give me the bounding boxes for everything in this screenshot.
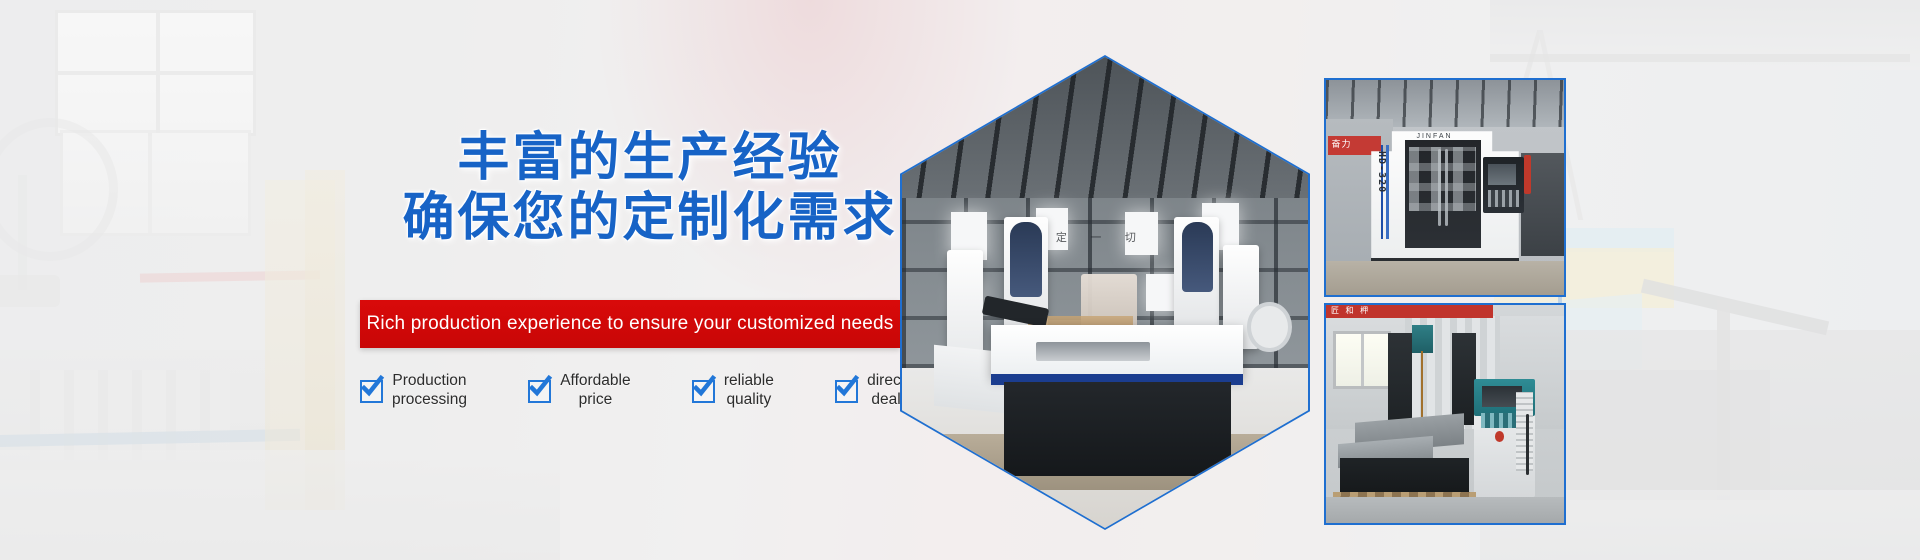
m2-window xyxy=(1333,331,1391,389)
m2-floor xyxy=(1326,497,1564,523)
feature-label-line-1: reliable xyxy=(724,372,774,389)
hexagon-photo-content: 定 一 切 xyxy=(902,57,1308,528)
feature-label-line-2: deal xyxy=(871,391,900,408)
m2-gantry-right xyxy=(1452,333,1476,425)
feature-label-line-1: Affordable xyxy=(560,372,630,389)
m1-floor xyxy=(1326,261,1564,295)
m2-wall-banner: 匠 和 柙 xyxy=(1326,305,1493,318)
machine-bridge-window xyxy=(1036,342,1150,361)
feature-label-line-2: processing xyxy=(392,391,467,408)
side-photo-edm: 匠 和 柙 xyxy=(1324,303,1566,525)
m1-door-window xyxy=(1409,147,1476,212)
checkbox-checked-icon xyxy=(528,380,551,403)
checkbox-checked-icon xyxy=(360,380,383,403)
machine-column-b-head xyxy=(1010,222,1042,297)
m1-red-guard xyxy=(1524,155,1531,194)
feature-list: Production processing Affordable price r… xyxy=(360,372,905,410)
checkbox-checked-icon xyxy=(692,380,715,403)
machine-base xyxy=(1004,382,1231,476)
m1-wall-banner-text: 奋力 xyxy=(1332,137,1352,150)
hero-banner: 丰富的生产经验 确保您的定制化需求 Rich production experi… xyxy=(0,0,1920,560)
feature-label-line-2: price xyxy=(579,391,613,408)
overhead-sign-text: 定 一 切 xyxy=(1040,229,1162,245)
factory-roof-beams xyxy=(902,57,1308,208)
feature-label: Production processing xyxy=(392,372,467,410)
factory-roof xyxy=(902,57,1308,208)
machine-column-c-head xyxy=(1182,222,1212,293)
headline-line-1: 丰富的生产经验 xyxy=(457,128,842,188)
feature-item-affordable-price: Affordable price xyxy=(528,372,630,410)
m1-control-keypad xyxy=(1488,190,1519,207)
feature-label: Affordable price xyxy=(560,372,630,410)
feature-label-line-1: Production xyxy=(392,372,466,389)
machine-wheel xyxy=(1247,302,1292,352)
factory-window xyxy=(1146,274,1174,312)
feature-label: reliable quality xyxy=(724,372,774,410)
m2-cabinet-vent xyxy=(1516,392,1533,470)
m2-machine-base xyxy=(1340,458,1469,497)
feature-item-reliable-quality: reliable quality xyxy=(692,372,774,410)
m2-cutting-head xyxy=(1412,325,1433,353)
m1-model-label: HD-320 xyxy=(1376,151,1387,193)
m2-hanging-cable xyxy=(1526,414,1529,475)
subtitle-bar: Rich production experience to ensure you… xyxy=(360,300,900,348)
feature-item-production-processing: Production processing xyxy=(360,372,467,410)
m2-wall-banner-text: 匠 和 柙 xyxy=(1331,305,1370,316)
side-photo-hd320: 奋力 HD-320 JINFAN xyxy=(1324,78,1566,297)
subtitle-bar-text: Rich production experience to ensure you… xyxy=(366,313,893,335)
headline-line-2: 确保您的定制化需求 xyxy=(340,188,960,248)
m1-control-screen xyxy=(1488,164,1517,186)
feature-item-direct-deal: direct deal xyxy=(835,372,905,410)
checkbox-checked-icon xyxy=(835,380,858,403)
feature-label-line-2: quality xyxy=(726,391,771,408)
hero-hexagon-photo: 定 一 切 xyxy=(900,55,1310,530)
headline: 丰富的生产经验 确保您的定制化需求 xyxy=(340,128,960,249)
side-photo-stack: 奋力 HD-320 JINFAN 匠 和 柙 xyxy=(1324,78,1562,525)
m1-brand-text: JINFAN xyxy=(1416,133,1452,140)
